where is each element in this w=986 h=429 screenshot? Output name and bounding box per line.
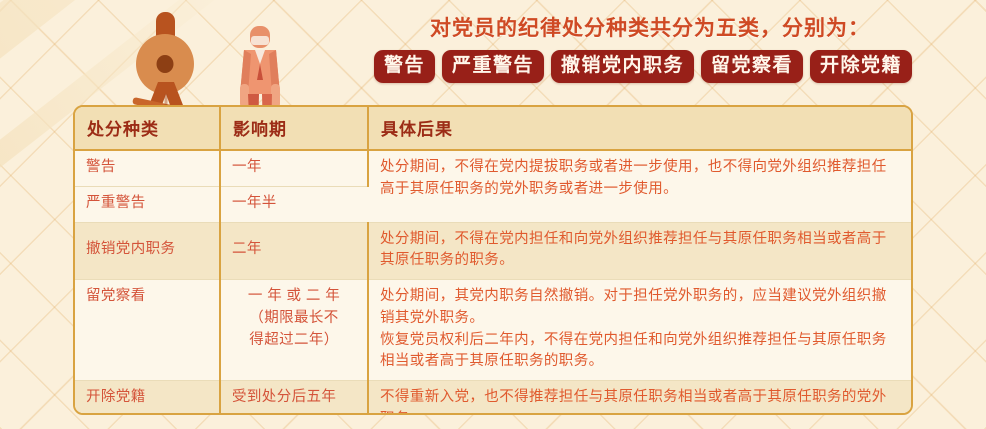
cell-kind: 撤销党内职务 xyxy=(75,222,220,280)
cell-kind: 留党察看 xyxy=(75,280,220,381)
discipline-table-card: 处分种类 影响期 具体后果 警告 一年 处分期间，不得在党内提拔职务或者进一步使… xyxy=(73,105,913,415)
cell-kind: 开除党籍 xyxy=(75,381,220,416)
cell-period: 二年 xyxy=(220,222,368,280)
punishment-pill-probation[interactable]: 留党察看 xyxy=(701,50,803,83)
column-header-consequence: 具体后果 xyxy=(368,107,911,150)
punishment-pill-remove-post[interactable]: 撤销党内职务 xyxy=(551,50,694,83)
background-stripe xyxy=(0,0,261,64)
punishment-pill-warning[interactable]: 警告 xyxy=(374,50,435,83)
cell-consequence: 处分期间，不得在党内担任和向党外组织推荐担任与其原任职务相当或者高于其原任职务的… xyxy=(368,222,911,280)
column-header-kind: 处分种类 xyxy=(75,107,220,150)
cell-period: 受到处分后五年 xyxy=(220,381,368,416)
cell-kind: 警告 xyxy=(75,150,220,186)
punishment-type-pill-list: 警告 严重警告 撤销党内职务 留党察看 开除党籍 xyxy=(318,50,968,83)
cell-period: 一年半 xyxy=(220,186,368,222)
table-header-row: 处分种类 影响期 具体后果 xyxy=(75,107,911,150)
column-header-period: 影响期 xyxy=(220,107,368,150)
punishment-pill-expulsion[interactable]: 开除党籍 xyxy=(810,50,912,83)
punishment-pill-serious-warning[interactable]: 严重警告 xyxy=(442,50,544,83)
table-header: 处分种类 影响期 具体后果 xyxy=(75,107,911,150)
cell-consequence: 不得重新入党，也不得推荐担任与其原任职务相当或者高于其原任职务的党外职务。 xyxy=(368,381,911,416)
table-body: 警告 一年 处分期间，不得在党内提拔职务或者进一步使用，也不得向党外组织推荐担任… xyxy=(75,150,911,415)
cell-period: 一年 xyxy=(220,150,368,186)
table-row: 撤销党内职务 二年 处分期间，不得在党内担任和向党外组织推荐担任与其原任职务相当… xyxy=(75,222,911,280)
cell-period: 一 年 或 二 年 （期限最长不 得超过二年） xyxy=(220,280,368,381)
discipline-table: 处分种类 影响期 具体后果 警告 一年 处分期间，不得在党内提拔职务或者进一步使… xyxy=(75,107,911,415)
table-row: 开除党籍 受到处分后五年 不得重新入党，也不得推荐担任与其原任职务相当或者高于其… xyxy=(75,381,911,416)
cell-consequence: 处分期间，不得在党内提拔职务或者进一步使用，也不得向党外组织推荐担任高于其原任职… xyxy=(368,150,911,222)
cell-kind: 严重警告 xyxy=(75,186,220,222)
table-row: 留党察看 一 年 或 二 年 （期限最长不 得超过二年） 处分期间，其党内职务自… xyxy=(75,280,911,381)
table-row: 警告 一年 处分期间，不得在党内提拔职务或者进一步使用，也不得向党外组织推荐担任… xyxy=(75,150,911,186)
cell-consequence: 处分期间，其党内职务自然撤销。对于担任党外职务的，应当建议党外组织撤销其党外职务… xyxy=(368,280,911,381)
infographic-canvas: 对党员的纪律处分种类共分为五类，分别为： 警告 严重警告 撤销党内职务 留党察看… xyxy=(0,0,986,429)
page-title: 对党员的纪律处分种类共分为五类，分别为： xyxy=(340,12,960,42)
